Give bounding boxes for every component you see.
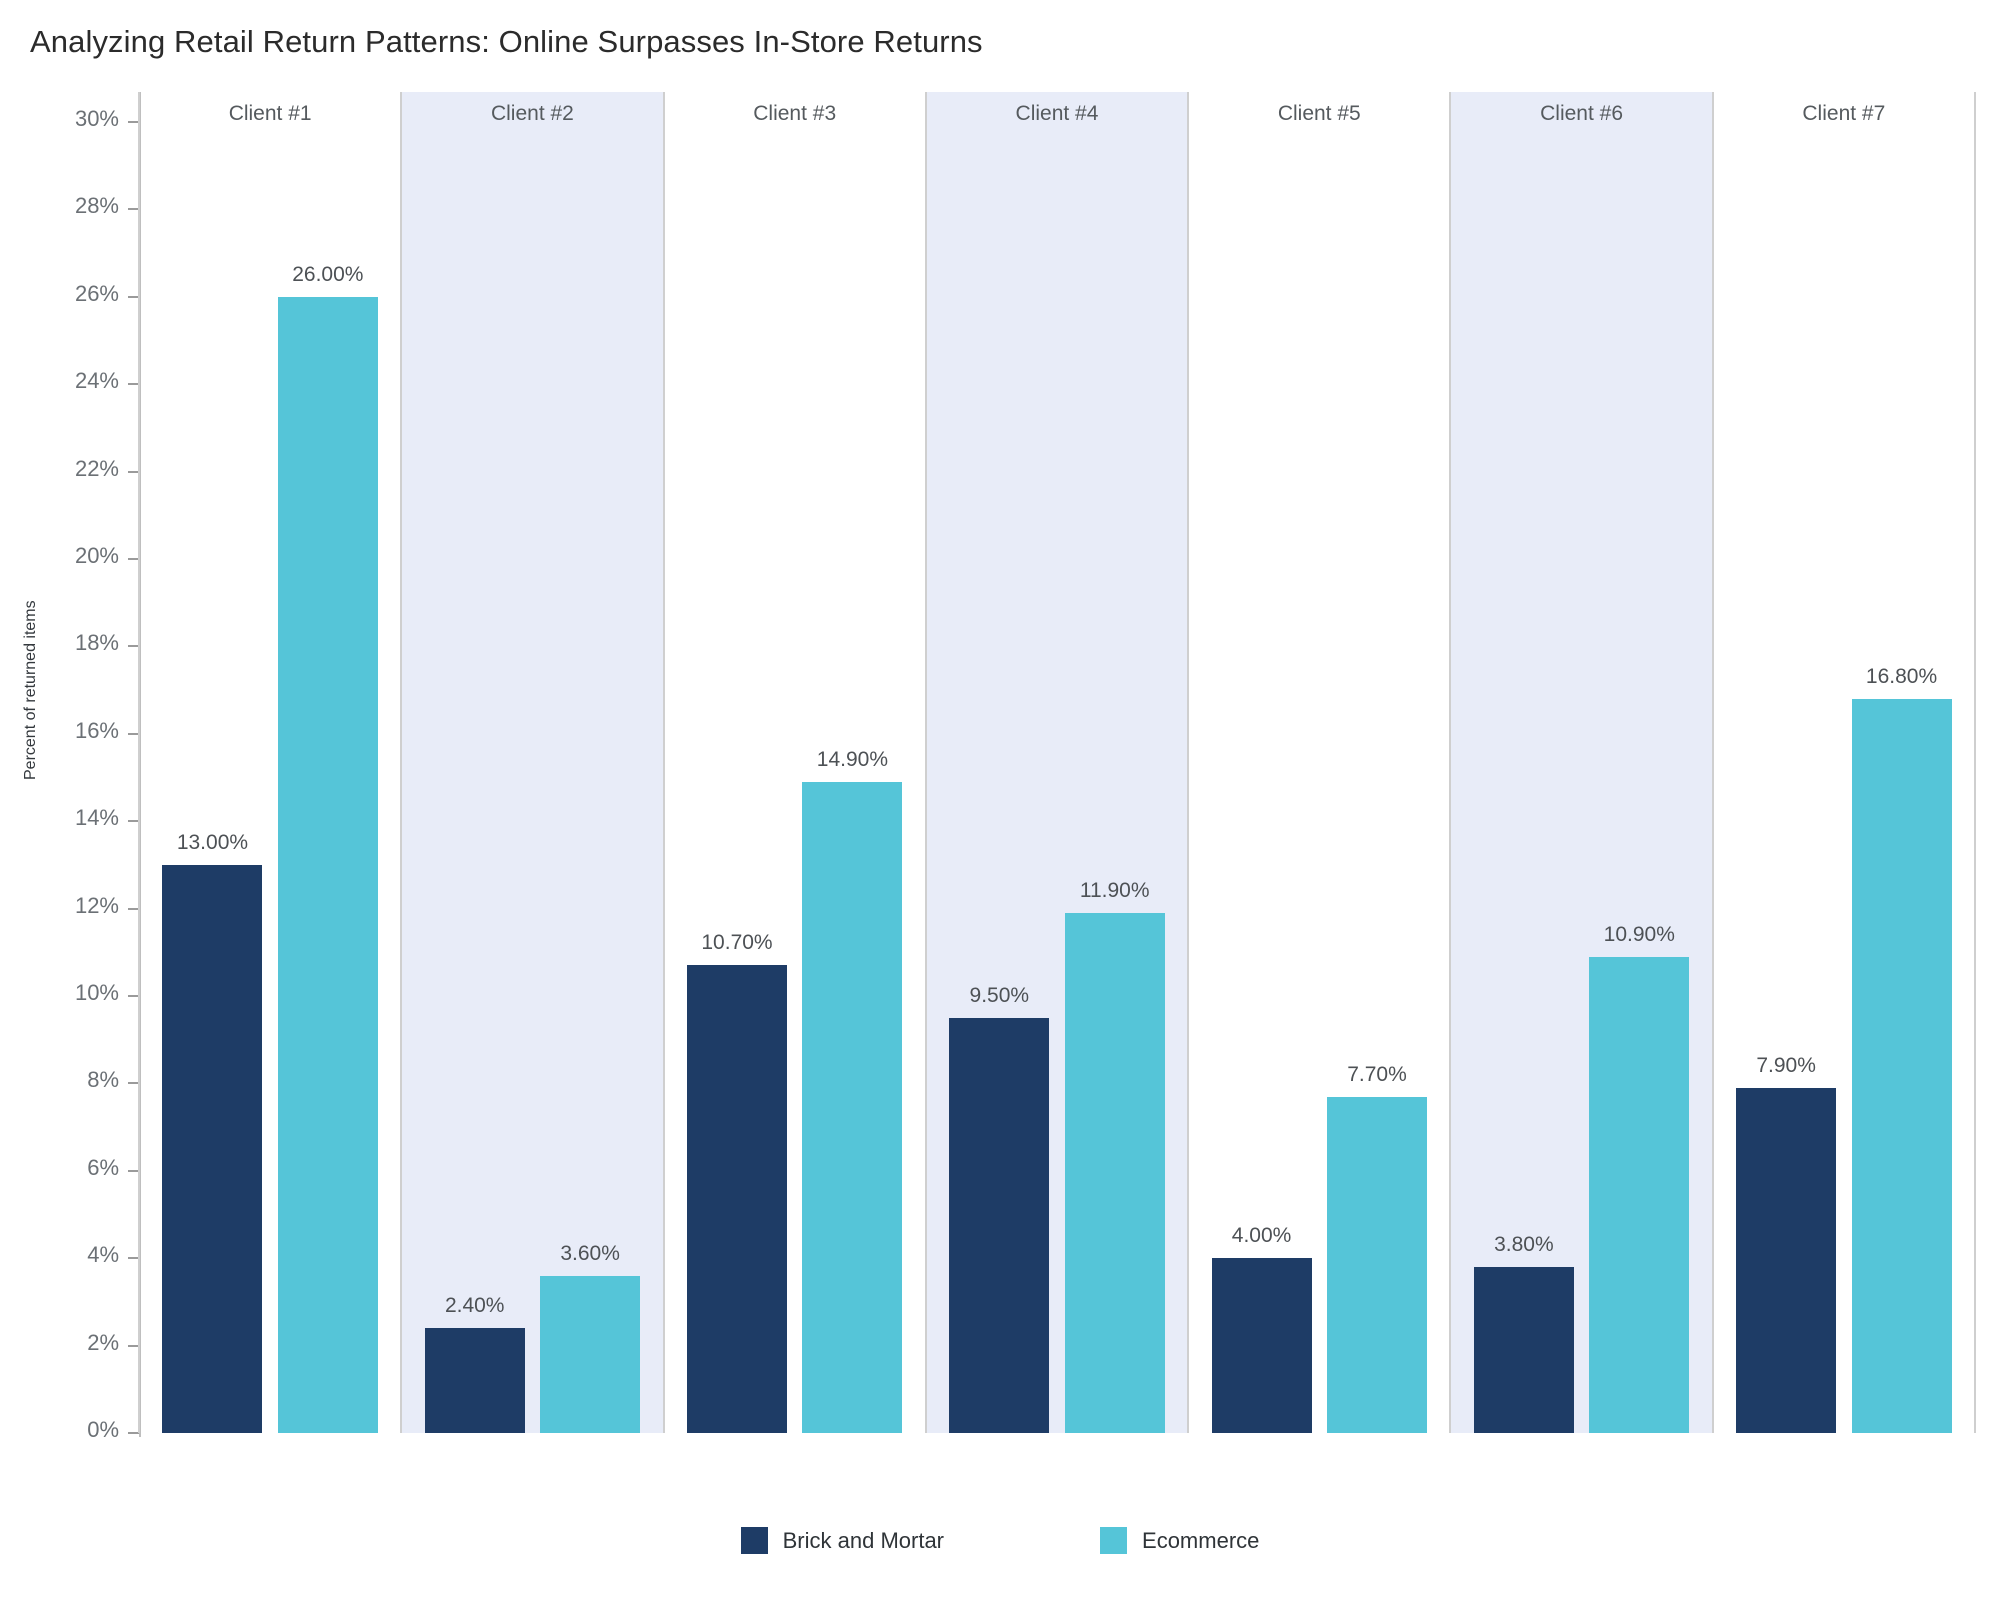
y-axis-tick-label: 4%	[87, 1242, 119, 1268]
group-header-3: Client #3	[664, 92, 926, 136]
y-axis-tick-label: 12%	[75, 893, 119, 919]
group-separator	[138, 92, 140, 1433]
y-axis-tick-label: 8%	[87, 1067, 119, 1093]
group-separator	[1974, 92, 1976, 1433]
y-axis-tick-label: 0%	[87, 1417, 119, 1443]
group-separator	[1449, 92, 1451, 1433]
bar-ecommerce-group-7[interactable]	[1852, 699, 1952, 1433]
legend-item-ecommerce[interactable]: Ecommerce	[1100, 1527, 1259, 1554]
legend-swatch-icon	[1100, 1527, 1127, 1554]
bar-value-label: 11.90%	[1025, 879, 1205, 903]
plot-area: Client #1Client #2Client #3Client #4Clie…	[139, 92, 1975, 1433]
bar-ecommerce-group-5[interactable]	[1327, 1097, 1427, 1433]
bar-value-label: 7.70%	[1287, 1063, 1467, 1087]
bar-ecommerce-group-1[interactable]	[278, 297, 378, 1433]
group-header-2: Client #2	[401, 92, 663, 136]
y-axis-ticks: 0%2%4%6%8%10%12%14%16%18%20%22%24%26%28%…	[0, 0, 139, 1600]
bar-value-label: 4.00%	[1172, 1224, 1352, 1248]
group-separator	[1712, 92, 1714, 1433]
bar-ecommerce-group-6[interactable]	[1589, 957, 1689, 1433]
bar-value-label: 3.80%	[1434, 1233, 1614, 1257]
legend-item-brick-and-mortar[interactable]: Brick and Mortar	[741, 1527, 944, 1554]
y-axis-tick-label: 2%	[87, 1330, 119, 1356]
y-axis-tick-label: 28%	[75, 193, 119, 219]
group-separator	[663, 92, 665, 1433]
group-header-5: Client #5	[1188, 92, 1450, 136]
legend-label: Ecommerce	[1142, 1528, 1259, 1554]
bar-value-label: 14.90%	[762, 748, 942, 772]
y-axis-tick-label: 26%	[75, 281, 119, 307]
group-header-7: Client #7	[1713, 92, 1975, 136]
bar-ecommerce-group-4[interactable]	[1065, 913, 1165, 1433]
y-axis-tick-label: 10%	[75, 980, 119, 1006]
y-axis-tick-label: 14%	[75, 805, 119, 831]
bar-value-label: 16.80%	[1812, 665, 1992, 689]
bar-value-label: 13.00%	[122, 831, 302, 855]
y-axis-tick-label: 24%	[75, 368, 119, 394]
bar-value-label: 9.50%	[909, 984, 1089, 1008]
group-header-4: Client #4	[926, 92, 1188, 136]
chart-legend: Brick and MortarEcommerce	[0, 1527, 2000, 1554]
legend-swatch-icon	[741, 1527, 768, 1554]
bar-value-label: 26.00%	[238, 263, 418, 287]
bar-brick-and-mortar-group-5[interactable]	[1212, 1258, 1312, 1433]
y-axis-tick-label: 16%	[75, 718, 119, 744]
y-axis-tick-label: 20%	[75, 543, 119, 569]
bar-brick-and-mortar-group-3[interactable]	[687, 965, 787, 1433]
y-axis-tick-label: 18%	[75, 630, 119, 656]
group-band-2	[401, 92, 663, 1433]
group-header-6: Client #6	[1450, 92, 1712, 136]
bar-brick-and-mortar-group-6[interactable]	[1474, 1267, 1574, 1433]
bar-brick-and-mortar-group-1[interactable]	[162, 865, 262, 1433]
group-header-1: Client #1	[139, 92, 401, 136]
bar-brick-and-mortar-group-7[interactable]	[1736, 1088, 1836, 1433]
legend-label: Brick and Mortar	[783, 1528, 944, 1554]
bar-value-label: 3.60%	[500, 1242, 680, 1266]
group-separator	[400, 92, 402, 1433]
bar-brick-and-mortar-group-4[interactable]	[949, 1018, 1049, 1433]
page-title: Analyzing Retail Return Patterns: Online…	[30, 24, 983, 60]
bar-ecommerce-group-2[interactable]	[540, 1276, 640, 1433]
bar-value-label: 2.40%	[385, 1294, 565, 1318]
bar-ecommerce-group-3[interactable]	[802, 782, 902, 1433]
bar-value-label: 10.70%	[647, 931, 827, 955]
bar-brick-and-mortar-group-2[interactable]	[425, 1328, 525, 1433]
y-axis-tick-label: 6%	[87, 1155, 119, 1181]
y-axis-tick-label: 30%	[75, 106, 119, 132]
y-axis-tick-label: 22%	[75, 456, 119, 482]
bar-value-label: 7.90%	[1696, 1054, 1876, 1078]
bar-value-label: 10.90%	[1549, 923, 1729, 947]
